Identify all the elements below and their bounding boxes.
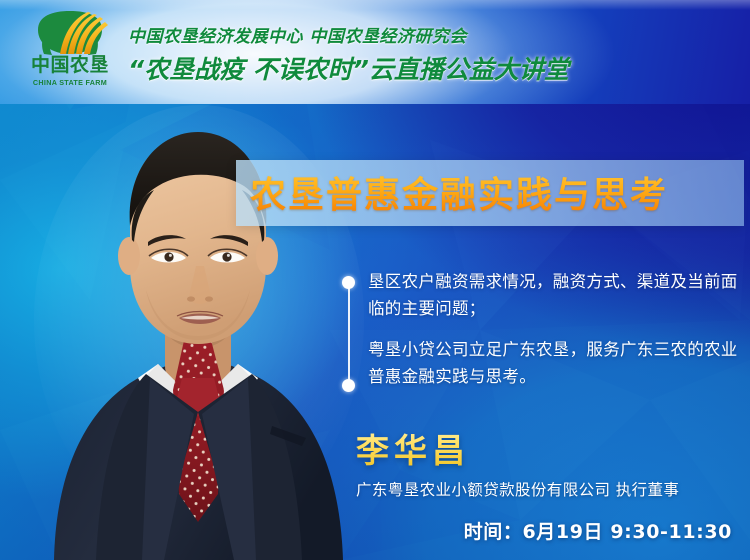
china-state-farm-emblem-icon [30, 10, 110, 58]
list-item: 粤垦小贷公司立足广东农垦，服务广东三农的农业普惠金融实践与思考。 [368, 336, 742, 390]
speaker-info: 李华昌 广东粤垦农业小额贷款股份有限公司 执行董事 [356, 424, 746, 500]
webinar-poster: 中国农垦 CHINA STATE FARM 中国农垦经济发展中心 中国农垦经济研… [0, 0, 750, 560]
logo: 中国农垦 CHINA STATE FARM [22, 10, 118, 96]
event-slogan: “农垦战疫 不误农时”云直播公益大讲堂 [128, 50, 569, 86]
rail-line [348, 282, 350, 386]
speaker-title: 广东粤垦农业小额贷款股份有限公司 执行董事 [356, 478, 746, 500]
topic-items: 垦区农户融资需求情况，融资方式、渠道及当前面临的主要问题； 粤垦小贷公司立足广东… [368, 268, 742, 390]
topic-list: 垦区农户融资需求情况，融资方式、渠道及当前面临的主要问题； 粤垦小贷公司立足广东… [342, 268, 742, 390]
logo-chinese-name: 中国农垦 [22, 56, 118, 76]
organizer-names: 中国农垦经济发展中心 中国农垦经济研究会 [128, 22, 569, 47]
list-item: 垦区农户融资需求情况，融资方式、渠道及当前面临的主要问题； [368, 268, 742, 322]
page-title: 农垦普惠金融实践与思考 [250, 166, 668, 218]
title-band: 农垦普惠金融实践与思考 [236, 160, 744, 226]
bullet-rail [342, 276, 355, 392]
header-text-block: 中国农垦经济发展中心 中国农垦经济研究会 “农垦战疫 不误农时”云直播公益大讲堂 [128, 20, 569, 86]
schedule-time: 时间：6月19日 9:30-11:30 [464, 517, 732, 544]
header-sheen [0, 0, 750, 10]
logo-english-name: CHINA STATE FARM [22, 78, 118, 87]
header-bar: 中国农垦 CHINA STATE FARM 中国农垦经济发展中心 中国农垦经济研… [0, 0, 750, 104]
header-content: 中国农垦 CHINA STATE FARM 中国农垦经济发展中心 中国农垦经济研… [22, 10, 569, 96]
bullet-dot-icon [342, 276, 355, 289]
speaker-name: 李华昌 [356, 424, 746, 472]
bullet-dot-icon [342, 379, 355, 392]
